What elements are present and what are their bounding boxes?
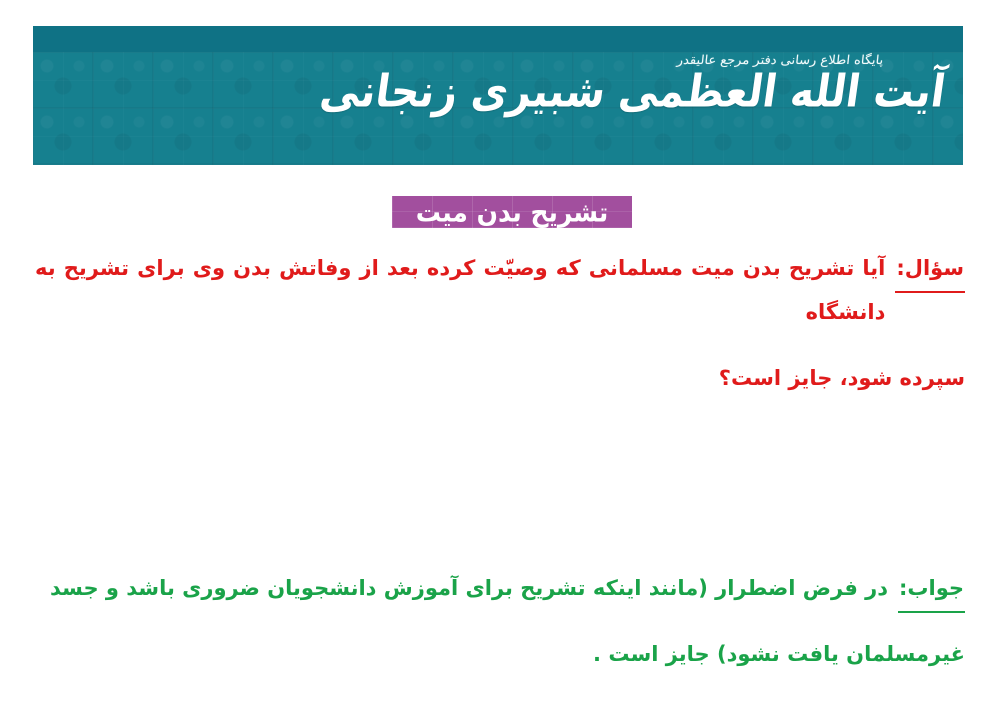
- question-answer-area: سؤال: آیا تشریح بدن میت مسلمانی که وصیّت…: [0, 246, 1000, 676]
- site-logo[interactable]: پایگاه اطلاع رسانی دفتر مرجع عالیقدر آیت…: [615, 54, 945, 113]
- answer-text: در فرض اضطرار (مانند اینکه تشریح برای آم…: [35, 566, 965, 676]
- site-header-banner: پایگاه اطلاع رسانی دفتر مرجع عالیقدر آیت…: [33, 26, 963, 165]
- question-block: سؤال: آیا تشریح بدن میت مسلمانی که وصیّت…: [35, 246, 965, 400]
- page-title: تشریح بدن میت: [416, 199, 609, 226]
- question-text: آیا تشریح بدن میت مسلمانی که وصیّت کرده …: [35, 246, 965, 400]
- header-top-strip: [33, 26, 963, 52]
- logo-name-calligraphy: آیت الله العظمی شبیری زنجانی: [612, 70, 948, 116]
- answer-block: جواب: در فرض اضطرار (مانند اینکه تشریح ب…: [35, 566, 965, 676]
- question-line-1: آیا تشریح بدن میت مسلمانی که وصیّت کرده …: [35, 256, 885, 324]
- answer-line-1: در فرض اضطرار (مانند اینکه تشریح برای آم…: [50, 576, 888, 600]
- question-label: سؤال:: [895, 246, 965, 293]
- fatwa-page: پایگاه اطلاع رسانی دفتر مرجع عالیقدر آیت…: [0, 0, 1000, 718]
- answer-line-2: غیرمسلمان یافت نشود) جایز است .: [35, 632, 965, 676]
- answer-label: جواب:: [898, 566, 965, 613]
- question-line-2: سپرده شود، جایز است؟: [35, 356, 965, 400]
- page-title-ribbon: تشریح بدن میت: [392, 196, 632, 228]
